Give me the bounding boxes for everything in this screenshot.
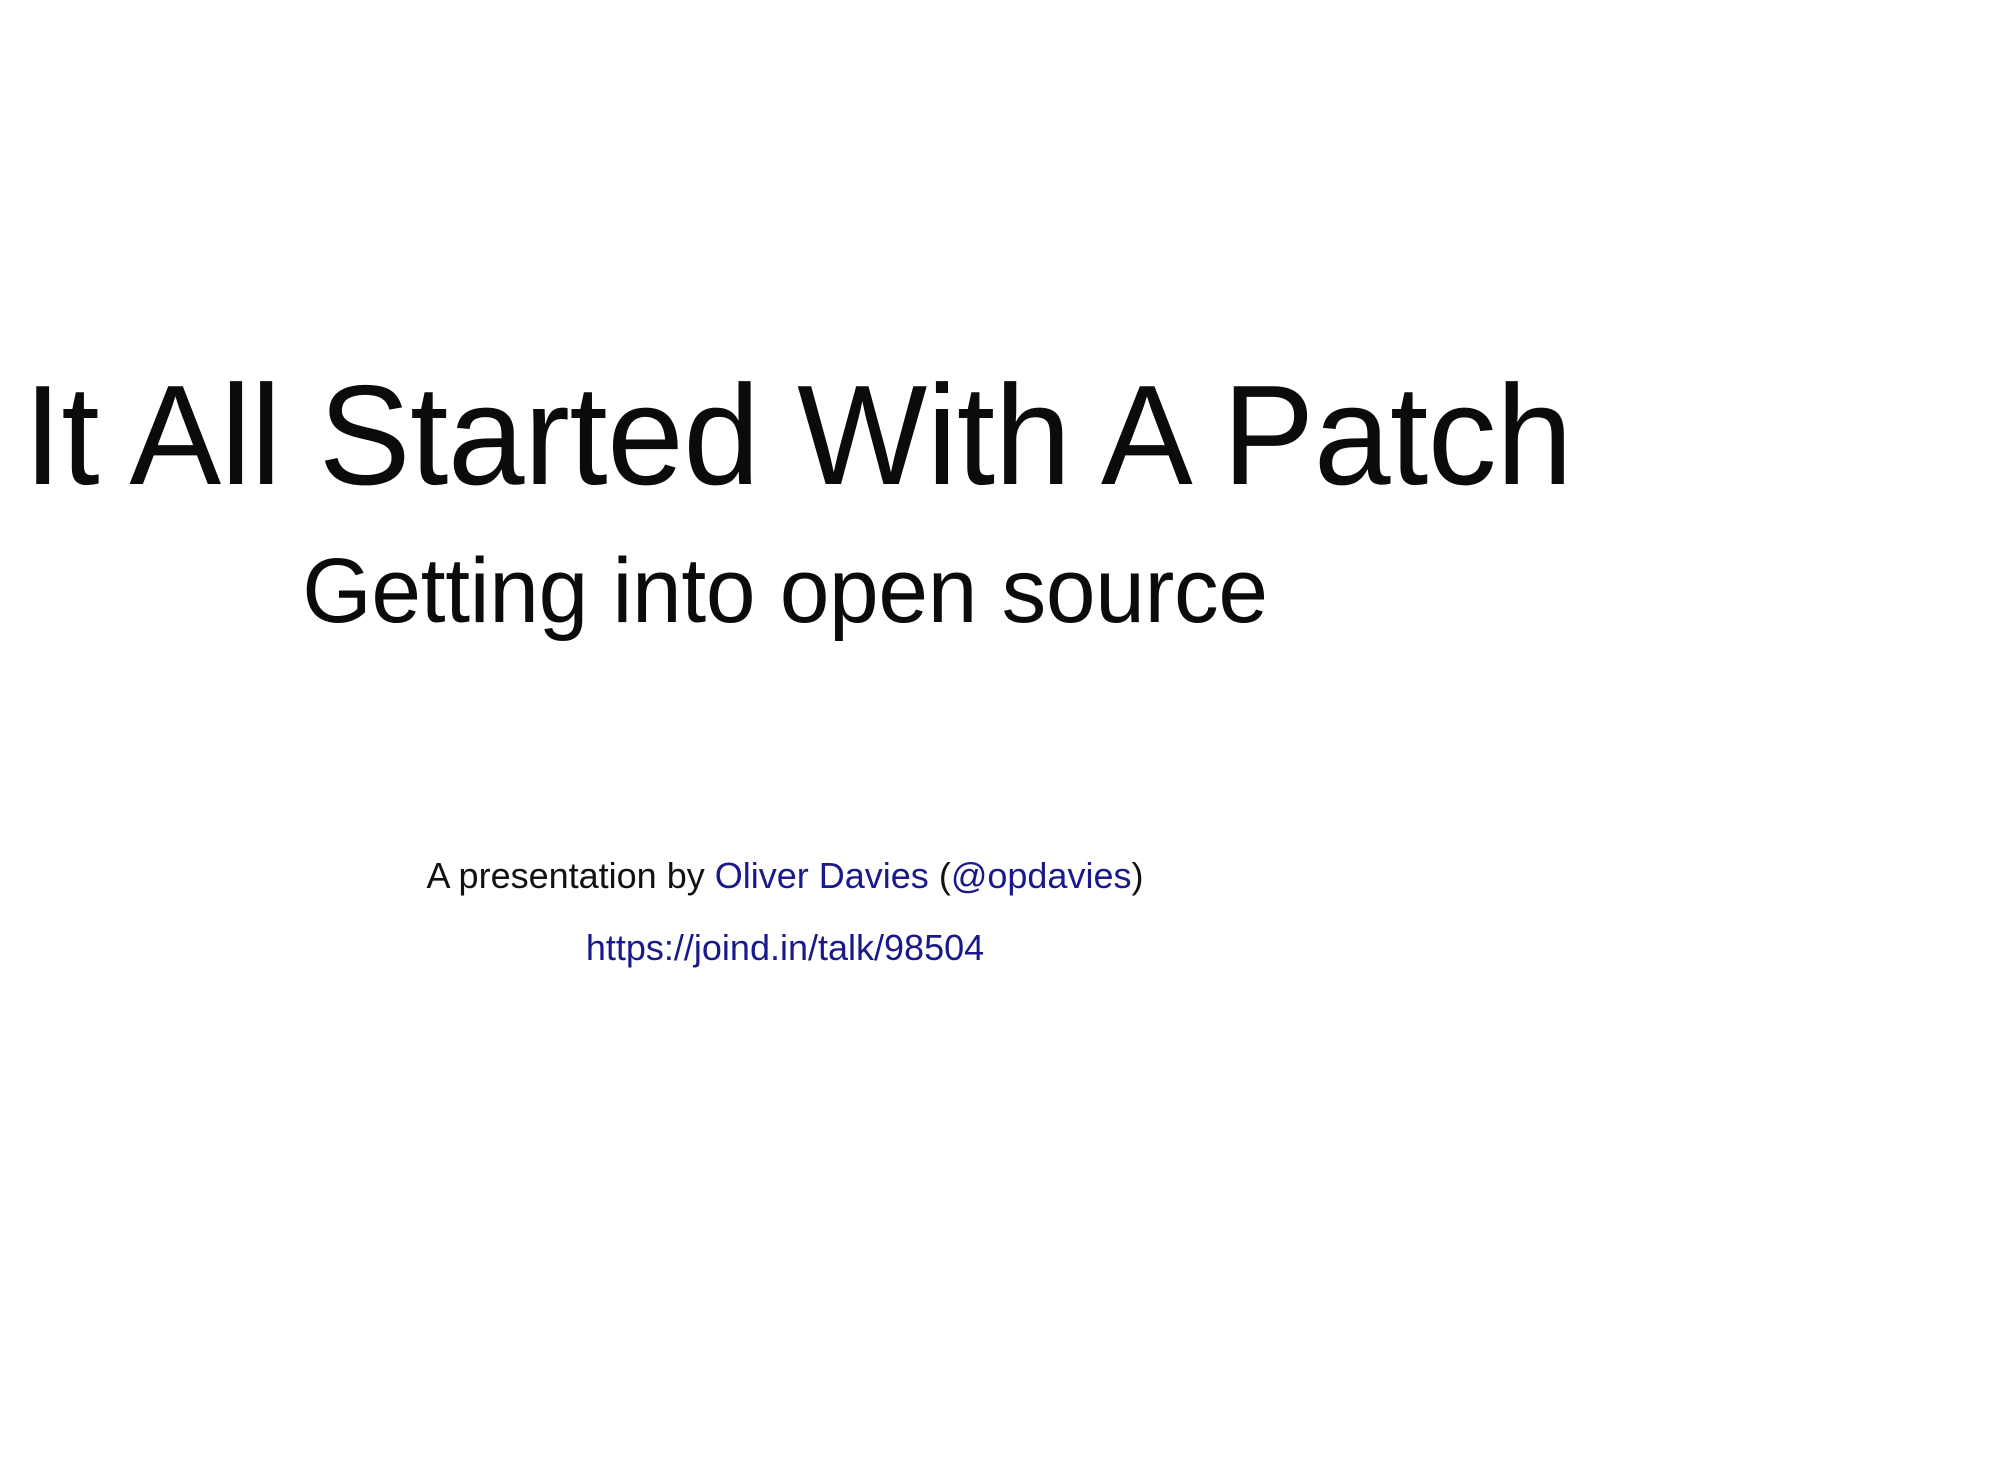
- page-subtitle: Getting into open source: [24, 545, 1547, 637]
- page-title: It All Started With A Patch: [24, 365, 1547, 507]
- close-paren: ): [1131, 855, 1143, 896]
- open-paren: (: [939, 855, 951, 896]
- author-link[interactable]: Oliver Davies: [715, 855, 929, 896]
- byline-prefix: A presentation by: [427, 855, 715, 896]
- slide-canvas: It All Started With A Patch Getting into…: [0, 0, 1570, 1459]
- byline-space: [929, 855, 939, 896]
- byline: A presentation by Oliver Davies (@opdavi…: [0, 855, 1570, 896]
- url-line: https://joind.in/talk/98504: [0, 927, 1570, 968]
- handle-link[interactable]: @opdavies: [951, 855, 1132, 896]
- talk-url-link[interactable]: https://joind.in/talk/98504: [586, 927, 984, 968]
